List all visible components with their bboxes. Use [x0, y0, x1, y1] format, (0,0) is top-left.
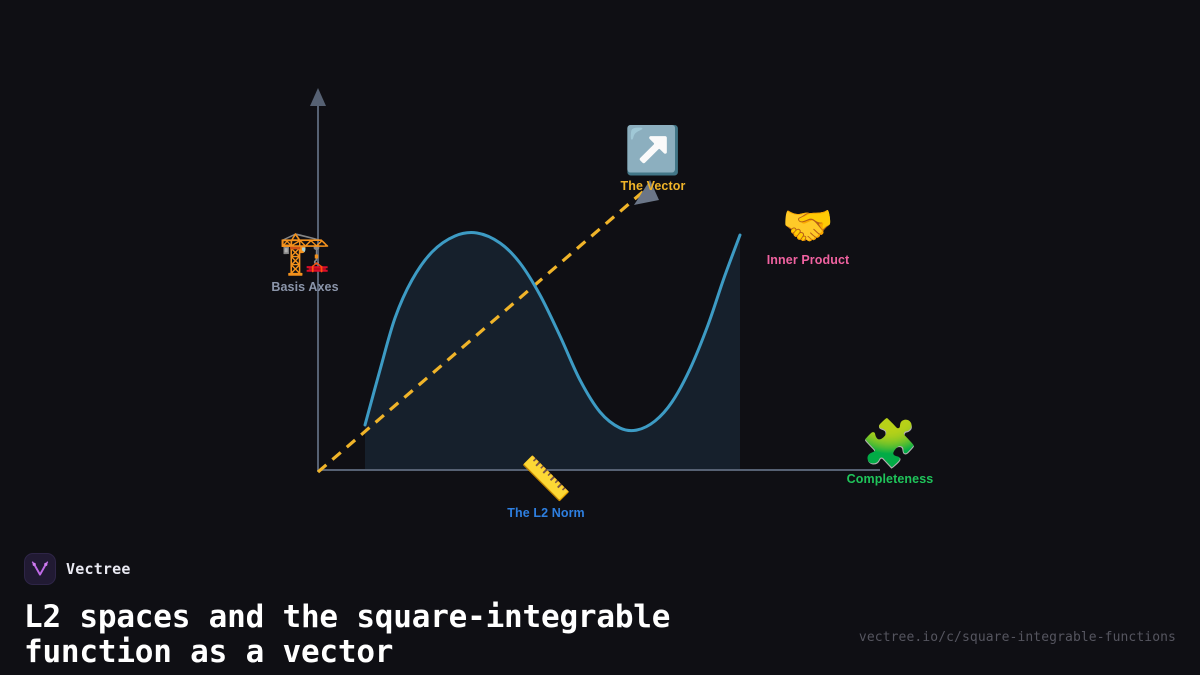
brand-row: Vectree [24, 552, 1176, 586]
social-card-canvas: 🏗️ Basis Axes ↗️ The Vector 🤝 Inner Prod… [0, 0, 1200, 675]
annotation-basis-axes[interactable]: 🏗️ Basis Axes [225, 232, 385, 294]
annotation-label-the-vector: The Vector [621, 179, 686, 193]
annotation-inner-product[interactable]: 🤝 Inner Product [728, 205, 888, 267]
vector-space-diagram: 🏗️ Basis Axes ↗️ The Vector 🤝 Inner Prod… [0, 0, 1200, 540]
source-url: vectree.io/c/square-integrable-functions [859, 630, 1176, 645]
annotation-label-basis-axes: Basis Axes [271, 280, 338, 294]
page-title: L2 spaces and the square-integrable func… [24, 600, 824, 671]
straight-ruler-icon: 📏 [520, 458, 572, 500]
vectree-logo-icon [24, 553, 56, 585]
handshake-icon: 🤝 [782, 205, 834, 247]
construction-crane-icon: 🏗️ [279, 232, 331, 274]
annotation-label-l2-norm: The L2 Norm [507, 506, 585, 520]
annotation-l2-norm[interactable]: 📏 The L2 Norm [466, 458, 626, 520]
annotation-completeness[interactable]: 🧩 Completeness [810, 420, 970, 486]
y-axis-arrowhead [310, 88, 326, 106]
brand-name: Vectree [66, 560, 131, 578]
annotation-the-vector[interactable]: ↗️ The Vector [573, 127, 733, 193]
arrow-up-right-icon: ↗️ [624, 127, 681, 173]
annotation-label-inner-product: Inner Product [767, 253, 850, 267]
annotation-label-completeness: Completeness [847, 472, 934, 486]
card-footer: Vectree L2 spaces and the square-integra… [0, 540, 1200, 675]
puzzle-piece-icon: 🧩 [861, 420, 918, 466]
